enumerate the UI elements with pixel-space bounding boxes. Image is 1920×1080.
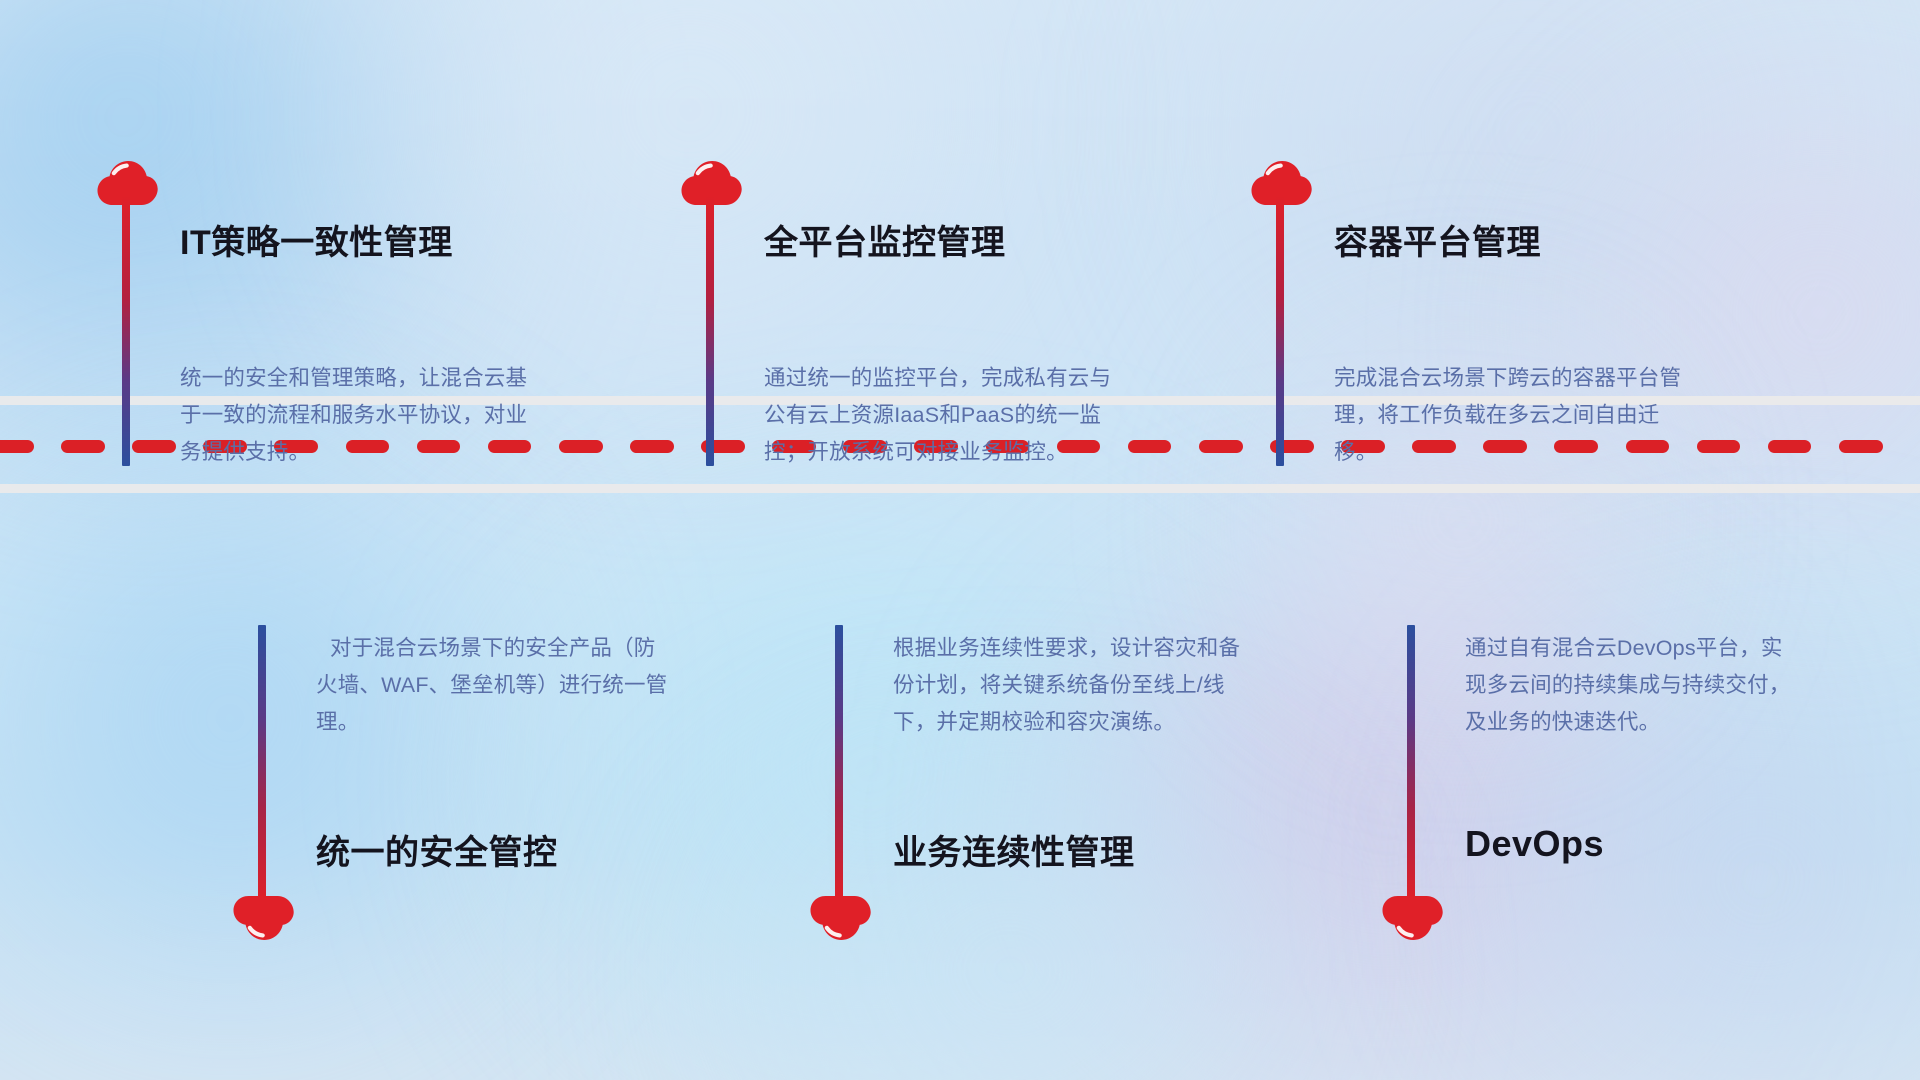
card-title: 容器平台管理 xyxy=(1334,215,1541,264)
road-dash-segment xyxy=(1199,440,1243,453)
road-line-lower xyxy=(0,484,1920,493)
card-description: 统一的安全和管理策略，让混合云基于一致的流程和服务水平协议，对业务提供支持。 xyxy=(180,360,532,471)
road-dash-segment xyxy=(1768,440,1812,453)
card-title: 统一的安全管控 xyxy=(316,825,558,874)
road-dash-segment xyxy=(61,440,105,453)
card-title: DevOps xyxy=(1465,823,1604,865)
card-title: 业务连续性管理 xyxy=(893,825,1135,874)
card-title: 全平台监控管理 xyxy=(764,215,1006,264)
connector-stem xyxy=(1276,196,1284,466)
road-dash-segment xyxy=(559,440,603,453)
card-description: 通过自有混合云DevOps平台，实现多云间的持续集成与持续交付，及业务的快速迭代… xyxy=(1465,630,1795,741)
cloud-icon xyxy=(809,895,871,943)
road-dash-segment xyxy=(1839,440,1883,453)
infographic-stage: IT策略一致性管理 统一的安全和管理策略，让混合云基于一致的流程和服务水平协议，… xyxy=(0,0,1920,1080)
card-description: 完成混合云场景下跨云的容器平台管理，将工作负载在多云之间自由迁移。 xyxy=(1334,360,1686,471)
connector-stem xyxy=(706,196,714,466)
cloud-icon xyxy=(1381,895,1443,943)
connector-stem xyxy=(122,196,130,466)
card-description: 根据业务连续性要求，设计容灾和备份计划，将关键系统备份至线上/线下，并定期校验和… xyxy=(893,630,1245,741)
road-dash-segment xyxy=(1697,440,1741,453)
card-title: IT策略一致性管理 xyxy=(180,215,453,264)
connector-stem xyxy=(835,625,843,902)
road-dash-segment xyxy=(1128,440,1172,453)
connector-stem xyxy=(258,625,266,902)
card-description: 对于混合云场景下的安全产品（防火墙、WAF、堡垒机等）进行统一管理。 xyxy=(316,630,668,741)
cloud-icon xyxy=(232,895,294,943)
road-dash-segment xyxy=(132,440,176,453)
connector-stem xyxy=(1407,625,1415,902)
card-description: 通过统一的监控平台，完成私有云与公有云上资源IaaS和PaaS的统一监控；开放系… xyxy=(764,360,1116,471)
road-dash-segment xyxy=(0,440,34,453)
road-dash-segment xyxy=(630,440,674,453)
